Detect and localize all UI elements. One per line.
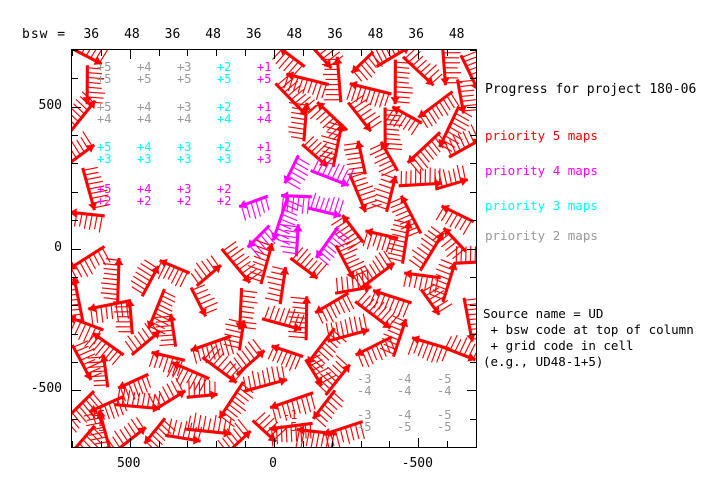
x-tick-bottom--400 bbox=[389, 441, 390, 447]
grid-cell-code: +5+4 bbox=[97, 101, 111, 125]
grid-cell-code: -1-5 bbox=[283, 409, 297, 433]
comb-glyph bbox=[385, 218, 414, 264]
grid-cell-row-code: +5 bbox=[97, 73, 111, 85]
grid-cell-row-code: +3 bbox=[137, 153, 151, 165]
x-tick-bottom--300 bbox=[361, 441, 362, 447]
plot-area: +5+5+4+5+3+5+2+5+1+5+5+4+4+4+3+4+2+4+1+4… bbox=[71, 49, 477, 448]
grid-cell-code: -3-5 bbox=[357, 409, 371, 433]
comb-glyph bbox=[345, 92, 385, 134]
grid-cell-row-code: +3 bbox=[177, 153, 191, 165]
x-tick--100 bbox=[303, 50, 304, 56]
y-tick-right-500 bbox=[467, 107, 476, 108]
grid-cell-row-code: +5 bbox=[137, 73, 151, 85]
x-axis-label-1: 0 bbox=[243, 456, 303, 471]
y-tick-400 bbox=[72, 135, 78, 136]
comb-glyph bbox=[238, 192, 274, 223]
bsw-header-col-5: 36 bbox=[234, 27, 274, 42]
bsw-header-col-6: 48 bbox=[274, 27, 314, 42]
grid-cell-code: +2+4 bbox=[217, 101, 231, 125]
comb-glyph bbox=[346, 79, 393, 110]
grid-cell-row-code: +4 bbox=[177, 113, 191, 125]
y-axis-label-0: 500 bbox=[6, 98, 62, 113]
bsw-header-col-10: 48 bbox=[437, 27, 477, 42]
grid-cell-code: +2+2 bbox=[217, 183, 231, 207]
x-tick-0 bbox=[274, 50, 275, 59]
y-tick--400 bbox=[72, 362, 78, 363]
x-tick--600 bbox=[447, 50, 448, 56]
y-tick-right-100 bbox=[470, 220, 476, 221]
comb-glyph bbox=[380, 107, 402, 150]
bsw-header-col-2: 48 bbox=[112, 27, 152, 42]
y-tick-right--100 bbox=[470, 277, 476, 278]
grid-cell-code: +4+4 bbox=[137, 101, 151, 125]
legend-item-priority-3: priority 3 maps bbox=[485, 198, 598, 213]
grid-cell-code: +2+3 bbox=[217, 141, 231, 165]
grid-cell-code: +1+4 bbox=[257, 101, 271, 125]
grid-cell-row-code: +5 bbox=[177, 73, 191, 85]
y-tick-right--700 bbox=[470, 447, 476, 448]
legend-item-priority-4: priority 4 maps bbox=[485, 163, 598, 178]
y-axis-label-2: -500 bbox=[6, 381, 62, 396]
x-tick-bottom-600 bbox=[101, 441, 102, 447]
grid-cell-row-code: +4 bbox=[137, 113, 151, 125]
y-axis-label-1: 0 bbox=[6, 240, 62, 255]
comb-glyph bbox=[216, 379, 259, 428]
y-tick--700 bbox=[72, 447, 78, 448]
grid-cell-row-code: +4 bbox=[217, 113, 231, 125]
x-tick-bottom--500 bbox=[418, 438, 419, 447]
grid-cell-row-code: +2 bbox=[97, 195, 111, 207]
grid-cell-row-code: +3 bbox=[97, 153, 111, 165]
grid-cell-code: +5-5 bbox=[91, 409, 105, 433]
legend-item-priority-2: priority 2 maps bbox=[485, 228, 598, 243]
y-tick-right-600 bbox=[470, 78, 476, 79]
grid-cell-row-code: -4 bbox=[357, 385, 371, 397]
comb-glyph bbox=[460, 295, 477, 343]
bsw-header-col-3: 36 bbox=[153, 27, 193, 42]
x-axis-label-2: -500 bbox=[387, 456, 447, 471]
y-tick-300 bbox=[72, 163, 78, 164]
grid-cell-code: -4-5 bbox=[397, 409, 411, 433]
grid-cell-row-code: +3 bbox=[217, 153, 231, 165]
comb-glyph bbox=[354, 333, 400, 370]
comb-glyph bbox=[305, 99, 350, 143]
comb-glyph bbox=[263, 265, 290, 305]
x-tick-300 bbox=[187, 50, 188, 56]
bsw-header-col-7: 36 bbox=[315, 27, 355, 42]
grid-cell-code: +4+5 bbox=[137, 61, 151, 85]
grid-cell-code: -5-5 bbox=[437, 409, 451, 433]
y-tick-right--500 bbox=[467, 390, 476, 391]
y-tick-500 bbox=[72, 107, 81, 108]
comb-glyph bbox=[185, 252, 224, 290]
x-tick-200 bbox=[216, 50, 217, 56]
grid-cell-row-code: +5 bbox=[217, 73, 231, 85]
y-tick-200 bbox=[72, 192, 78, 193]
comb-glyph bbox=[341, 140, 370, 178]
grid-cell-row-code: +4 bbox=[97, 113, 111, 125]
comb-glyph bbox=[272, 71, 320, 119]
y-tick-right-400 bbox=[470, 135, 476, 136]
bsw-header-col-8: 48 bbox=[356, 27, 396, 42]
grid-cell-code: -3-4 bbox=[357, 373, 371, 397]
grid-cell-code: +2+5 bbox=[217, 61, 231, 85]
grid-cell-code: +5+5 bbox=[97, 61, 111, 85]
comb-glyph bbox=[431, 163, 470, 193]
grid-cell-row-code: +2 bbox=[137, 195, 151, 207]
grid-cell-code: +1+5 bbox=[257, 61, 271, 85]
y-tick-right--600 bbox=[470, 419, 476, 420]
grid-cell-row-code: -5 bbox=[357, 421, 371, 433]
grid-cell-code: +3+4 bbox=[177, 101, 191, 125]
y-tick-right--300 bbox=[470, 334, 476, 335]
comb-glyph bbox=[235, 288, 258, 331]
y-tick-right--200 bbox=[470, 305, 476, 306]
grid-cell-code: -4-4 bbox=[397, 373, 411, 397]
y-tick-right-700 bbox=[470, 50, 476, 51]
source-name-note: Source name = UD + bsw code at top of co… bbox=[483, 306, 694, 370]
comb-glyph bbox=[185, 377, 218, 402]
y-tick--100 bbox=[72, 277, 78, 278]
legend-item-priority-5: priority 5 maps bbox=[485, 128, 598, 143]
grid-cell-code: +4+2 bbox=[137, 183, 151, 207]
y-tick--300 bbox=[72, 334, 78, 335]
bsw-header-col-1: 36 bbox=[71, 27, 111, 42]
grid-cell-code: +3+5 bbox=[177, 61, 191, 85]
x-tick-bottom--100 bbox=[303, 441, 304, 447]
x-tick-bottom-400 bbox=[159, 441, 160, 447]
grid-cell-code: +3+3 bbox=[177, 141, 191, 165]
x-tick-bottom--200 bbox=[332, 441, 333, 447]
y-tick-100 bbox=[72, 220, 78, 221]
grid-cell-row-code: +2 bbox=[217, 195, 231, 207]
page-title: Progress for project 180-06 bbox=[485, 82, 696, 97]
x-tick-100 bbox=[245, 50, 246, 56]
comb-glyph bbox=[187, 280, 221, 319]
grid-cell-code: +3+2 bbox=[177, 183, 191, 207]
grid-cell-row-code: -4 bbox=[437, 385, 451, 397]
grid-cell-row-code: +5 bbox=[257, 73, 271, 85]
grid-cell-code: +5+3 bbox=[97, 141, 111, 165]
x-tick-bottom--700 bbox=[476, 441, 477, 447]
comb-glyph bbox=[104, 414, 149, 448]
x-axis-label-0: 500 bbox=[99, 456, 159, 471]
x-tick-400 bbox=[159, 50, 160, 56]
x-tick--400 bbox=[389, 50, 390, 56]
x-tick-bottom-0 bbox=[274, 438, 275, 447]
x-tick-600 bbox=[101, 50, 102, 56]
x-tick--200 bbox=[332, 50, 333, 56]
x-tick-bottom-500 bbox=[130, 438, 131, 447]
x-tick--300 bbox=[361, 50, 362, 56]
grid-cell-row-code: -5 bbox=[437, 421, 451, 433]
x-tick-bottom-200 bbox=[216, 441, 217, 447]
grid-cell-code: +4+3 bbox=[137, 141, 151, 165]
comb-glyph bbox=[281, 153, 314, 191]
y-tick-right-0 bbox=[467, 249, 476, 250]
x-tick-bottom-100 bbox=[245, 441, 246, 447]
y-tick-0 bbox=[72, 249, 81, 250]
comb-glyph bbox=[144, 287, 181, 335]
grid-cell-code: -5-4 bbox=[437, 373, 451, 397]
y-tick-700 bbox=[72, 50, 78, 51]
y-tick--600 bbox=[72, 419, 78, 420]
y-tick-right-300 bbox=[470, 163, 476, 164]
y-tick--500 bbox=[72, 390, 81, 391]
comb-glyph bbox=[407, 333, 451, 366]
comb-glyph bbox=[100, 257, 123, 302]
comb-glyph bbox=[391, 60, 413, 105]
grid-cell-row-code: -5 bbox=[397, 421, 411, 433]
x-tick-bottom-300 bbox=[187, 441, 188, 447]
grid-cell-row-code: -5 bbox=[91, 421, 105, 433]
grid-cell-code: +5+2 bbox=[97, 183, 111, 207]
comb-glyph bbox=[361, 226, 399, 255]
grid-cell-row-code: +2 bbox=[177, 195, 191, 207]
y-tick-600 bbox=[72, 78, 78, 79]
grid-cell-row-code: +3 bbox=[257, 153, 271, 165]
y-tick-right-200 bbox=[470, 192, 476, 193]
bsw-row-label: bsw = bbox=[22, 27, 66, 42]
glyph-layer bbox=[72, 50, 477, 448]
grid-cell-row-code: -4 bbox=[397, 385, 411, 397]
comb-glyph bbox=[307, 191, 345, 220]
comb-glyph bbox=[348, 50, 385, 85]
x-tick--700 bbox=[476, 50, 477, 56]
x-tick-500 bbox=[130, 50, 131, 59]
comb-glyph bbox=[127, 258, 163, 299]
comb-glyph bbox=[222, 318, 249, 352]
grid-cell-row-code: +4 bbox=[257, 113, 271, 125]
x-tick--500 bbox=[418, 50, 419, 59]
grid-cell-code: +1+3 bbox=[257, 141, 271, 165]
x-tick-bottom--600 bbox=[447, 441, 448, 447]
y-tick--200 bbox=[72, 305, 78, 306]
grid-cell-row-code: -5 bbox=[283, 421, 297, 433]
comb-glyph bbox=[225, 337, 267, 378]
bsw-header-col-9: 36 bbox=[396, 27, 436, 42]
bsw-header-col-4: 48 bbox=[193, 27, 233, 42]
y-tick-right--400 bbox=[470, 362, 476, 363]
